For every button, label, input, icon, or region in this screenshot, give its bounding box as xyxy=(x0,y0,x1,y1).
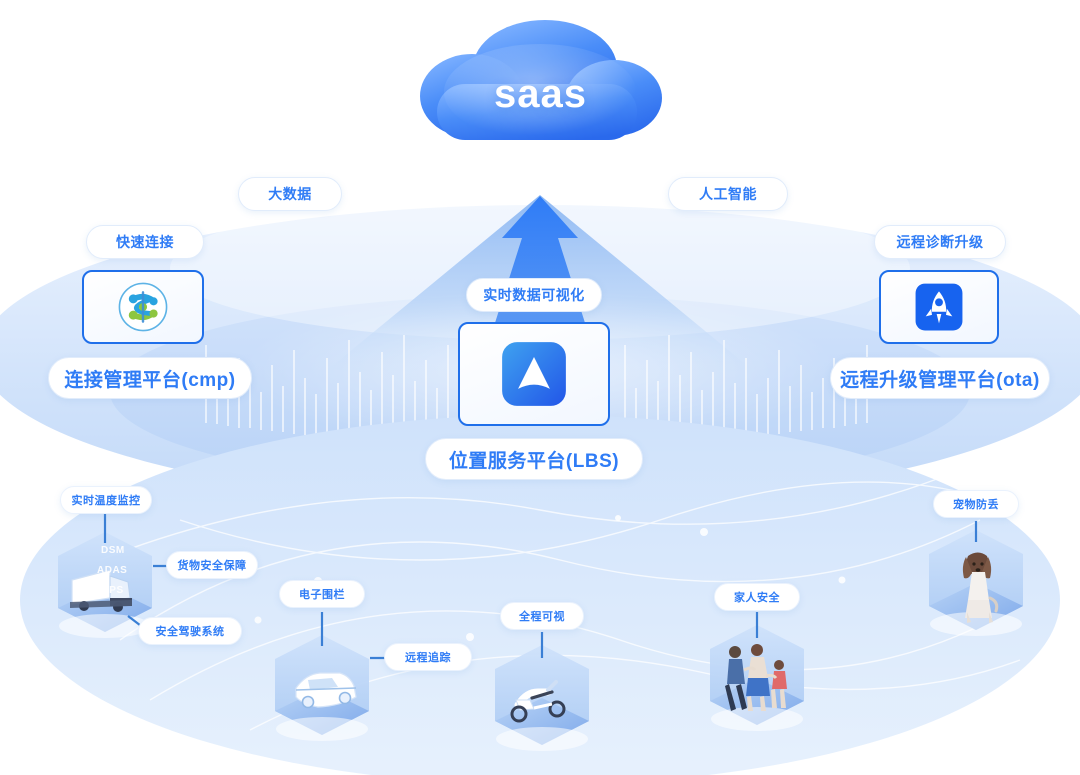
label-remote-tracking[interactable]: 远程追踪 xyxy=(384,643,472,671)
infographic-canvas: saas 大数据 人工智能 快速连接 远程诊断升级 实时数据可视化 连接管理平台… xyxy=(0,0,1080,775)
label-geofence[interactable]: 电子围栏 xyxy=(279,580,365,608)
label-family-safety[interactable]: 家人安全 xyxy=(714,583,800,611)
label-safe-driving-system[interactable]: 安全驾驶系统 xyxy=(138,617,242,645)
label-cargo-safety[interactable]: 货物安全保障 xyxy=(166,551,258,579)
device-connectors xyxy=(0,0,1080,775)
label-temperature-monitoring[interactable]: 实时温度监控 xyxy=(60,486,152,514)
label-full-journey-visible[interactable]: 全程可视 xyxy=(500,602,584,630)
label-pet-anti-loss[interactable]: 宠物防丢 xyxy=(933,490,1019,518)
